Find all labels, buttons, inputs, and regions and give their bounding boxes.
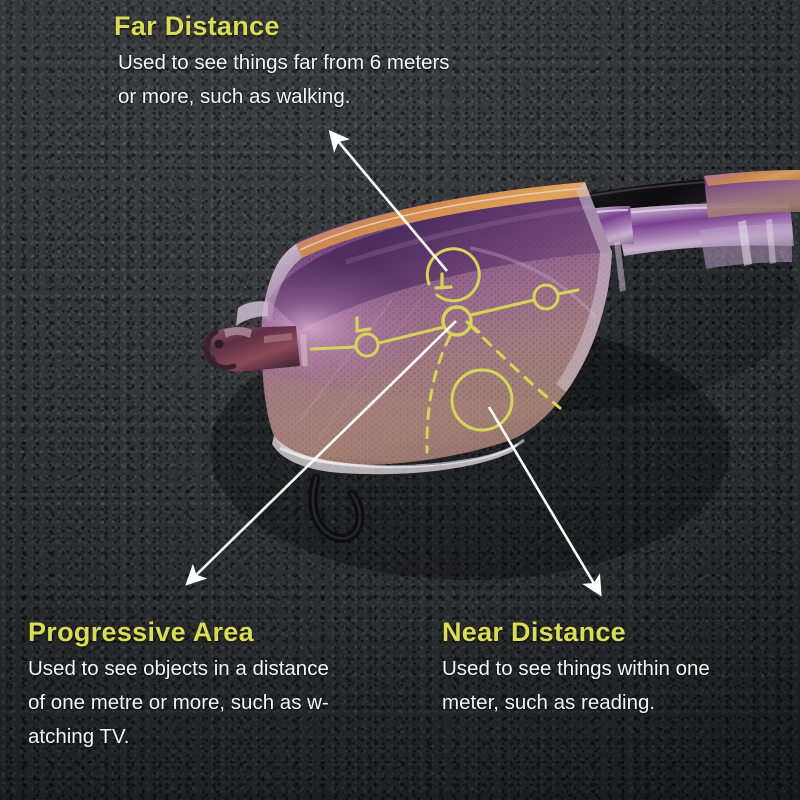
far-distance-heading: Far Distance — [114, 12, 450, 40]
near-distance-line-1: Used to see things within one — [442, 652, 710, 686]
progressive-area-line-1: Used to see objects in a distance — [28, 652, 329, 686]
near-distance-heading: Near Distance — [442, 618, 710, 646]
callout-far-distance: Far Distance Used to see things far from… — [100, 12, 450, 114]
callout-near-distance: Near Distance Used to see things within … — [442, 618, 710, 720]
near-distance-line-2: meter, such as reading. — [442, 686, 710, 720]
far-distance-line-1: Used to see things far from 6 meters — [118, 46, 450, 80]
callout-progressive-area: Progressive Area Used to see objects in … — [28, 618, 329, 754]
far-distance-line-2: or more, such as walking. — [118, 80, 450, 114]
progressive-area-heading: Progressive Area — [28, 618, 329, 646]
right-lens-fragment — [704, 170, 800, 218]
axis-left-segment — [311, 347, 356, 349]
progressive-area-line-3: atching TV. — [28, 720, 329, 754]
progressive-area-line-2: of one metre or more, such as w- — [28, 686, 329, 720]
infographic-canvas: Far Distance Used to see things far from… — [0, 0, 800, 800]
